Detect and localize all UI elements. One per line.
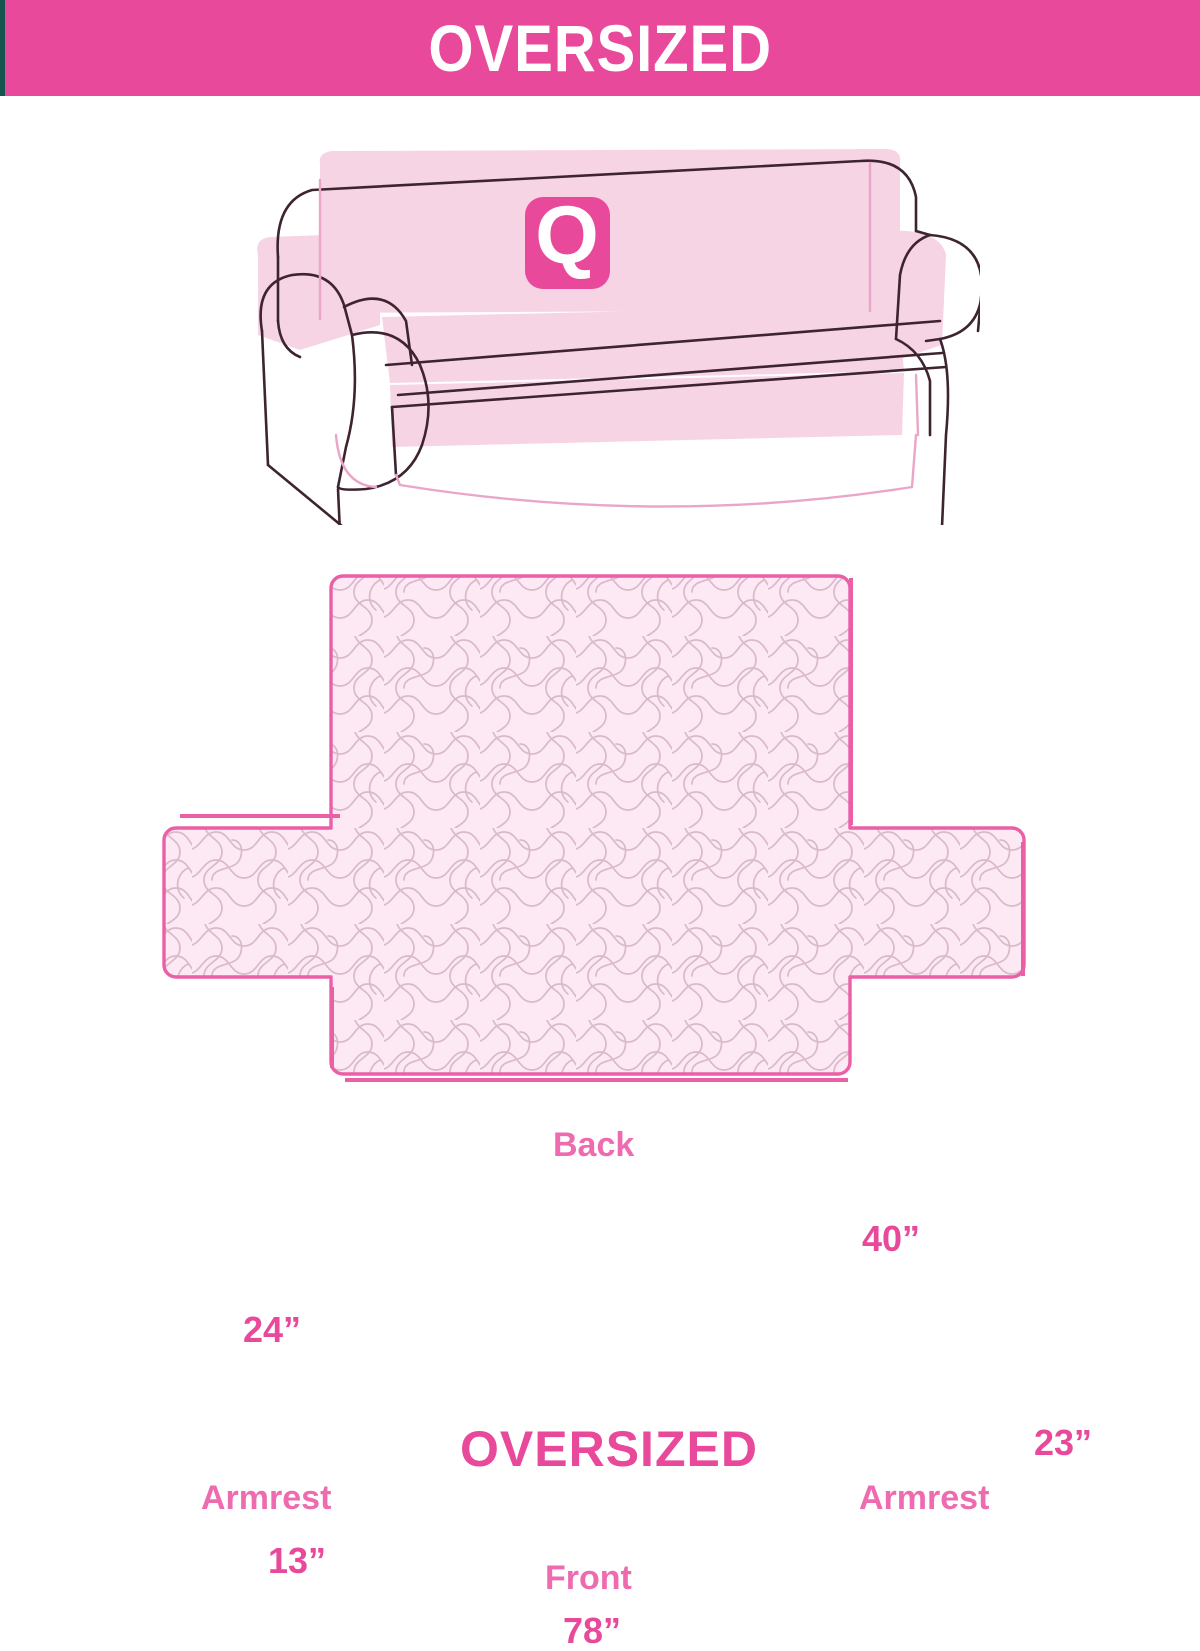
dimension-label-24: 24” [243,1312,301,1348]
slipcover-panel-shape [164,576,1024,1074]
brand-logo: Q [525,190,610,289]
dimension-label-78: 78” [563,1613,621,1649]
page-title: OVERSIZED [428,15,772,81]
sofa-body-fill [257,149,946,447]
dimension-label-40: 40” [862,1221,920,1257]
header-banner: OVERSIZED [0,0,1200,96]
cover-diagram: Back Armrest Armrest Front OVERSIZED 24”… [0,540,1200,1200]
diagram-center-label: OVERSIZED [460,1424,758,1474]
header-accent-stripe [0,0,5,96]
sofa-illustration: Q [240,135,980,525]
svg-text:Q: Q [535,190,599,281]
panel-label-back: Back [553,1128,634,1162]
dimension-label-23: 23” [1034,1425,1092,1461]
panel-label-armrest-right: Armrest [859,1481,989,1515]
panel-label-armrest-left: Armrest [201,1481,331,1515]
panel-label-front: Front [545,1561,632,1595]
dimension-label-13: 13” [268,1543,326,1579]
